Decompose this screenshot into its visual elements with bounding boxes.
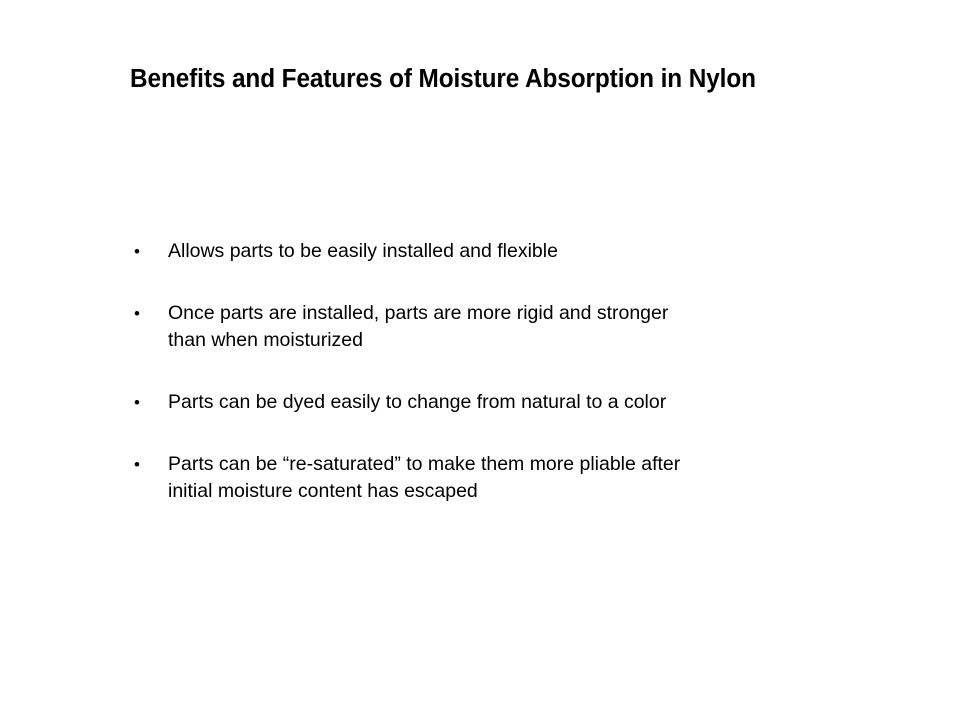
bullet-list: • Allows parts to be easily installed an… — [131, 238, 831, 505]
bullet-point-icon: • — [131, 451, 168, 478]
list-item: • Once parts are installed, parts are mo… — [131, 300, 831, 354]
list-item-line: Once parts are installed, parts are more… — [168, 300, 808, 327]
list-item-line: Parts can be “re-saturated” to make them… — [168, 451, 808, 478]
list-item: • Allows parts to be easily installed an… — [131, 238, 831, 265]
list-item-line: than when moisturized — [168, 327, 808, 354]
bullet-point-icon: • — [131, 389, 168, 416]
list-item-line: Parts can be dyed easily to change from … — [168, 389, 808, 416]
list-item: • Parts can be “re-saturated” to make th… — [131, 451, 831, 505]
list-item-text: Parts can be dyed easily to change from … — [168, 389, 808, 416]
list-item: • Parts can be dyed easily to change fro… — [131, 389, 831, 416]
bullet-point-icon: • — [131, 238, 168, 265]
presentation-slide: Benefits and Features of Moisture Absorp… — [0, 0, 960, 720]
list-item-text: Allows parts to be easily installed and … — [168, 238, 808, 265]
page-title: Benefits and Features of Moisture Absorp… — [130, 63, 856, 95]
list-item-text: Parts can be “re-saturated” to make them… — [168, 451, 808, 505]
bullet-point-icon: • — [131, 300, 168, 327]
list-item-line: Allows parts to be easily installed and … — [168, 238, 808, 265]
list-item-text: Once parts are installed, parts are more… — [168, 300, 808, 354]
list-item-line: initial moisture content has escaped — [168, 478, 808, 505]
